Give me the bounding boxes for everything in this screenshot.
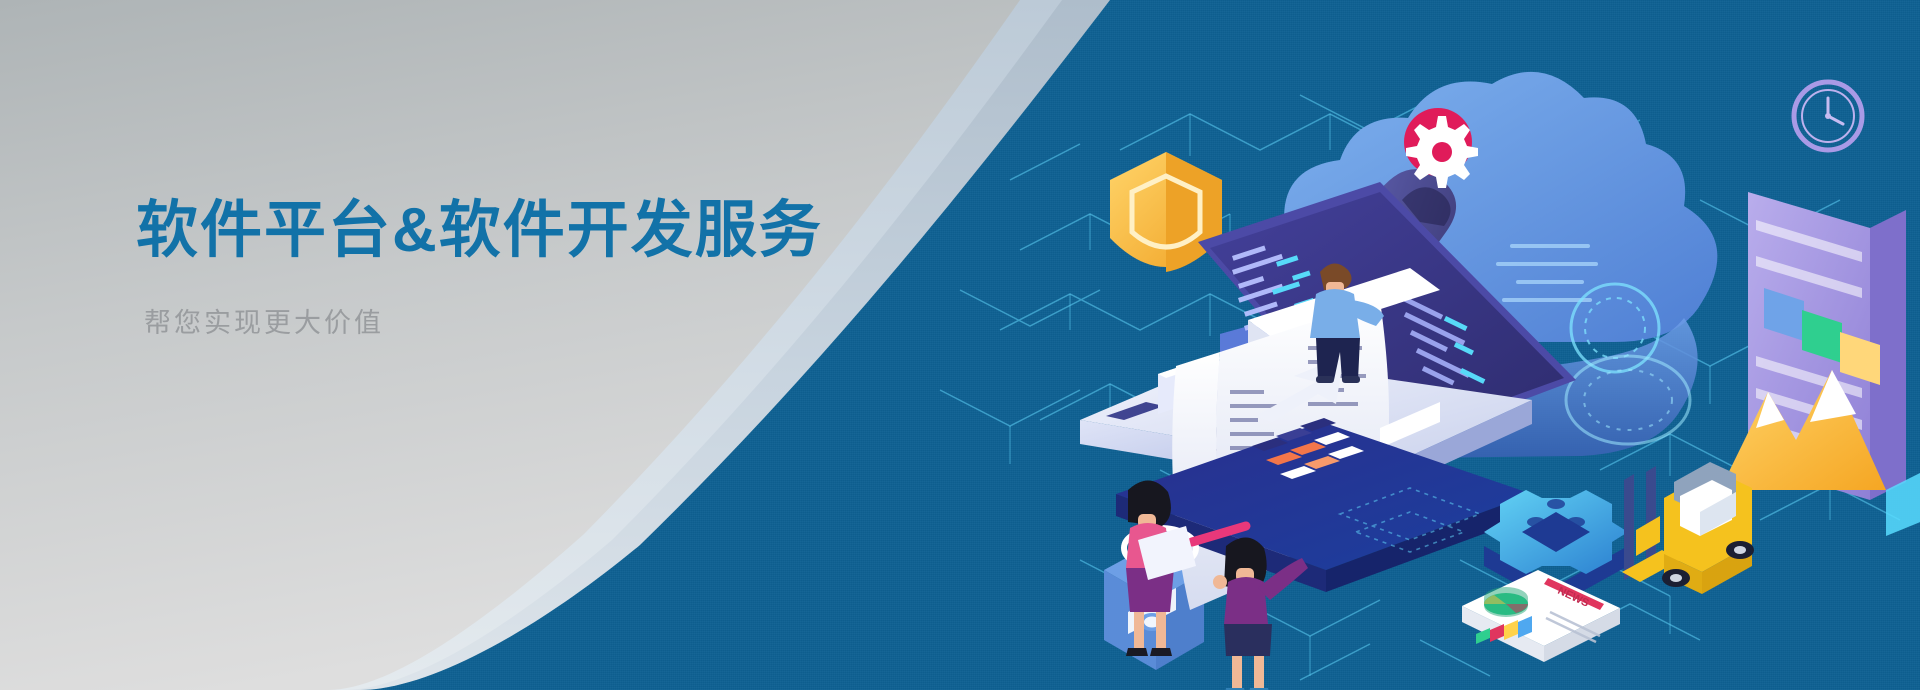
hero-copy: 软件平台&软件开发服务 帮您实现更大价值	[136, 196, 896, 340]
page-title: 软件平台&软件开发服务	[136, 196, 896, 265]
page-subtitle: 帮您实现更大价值	[144, 307, 896, 339]
gray-swoosh-overlay	[0, 0, 1920, 690]
swoosh-main-field	[0, 0, 1020, 690]
hero-banner: NEWS	[0, 0, 1920, 690]
